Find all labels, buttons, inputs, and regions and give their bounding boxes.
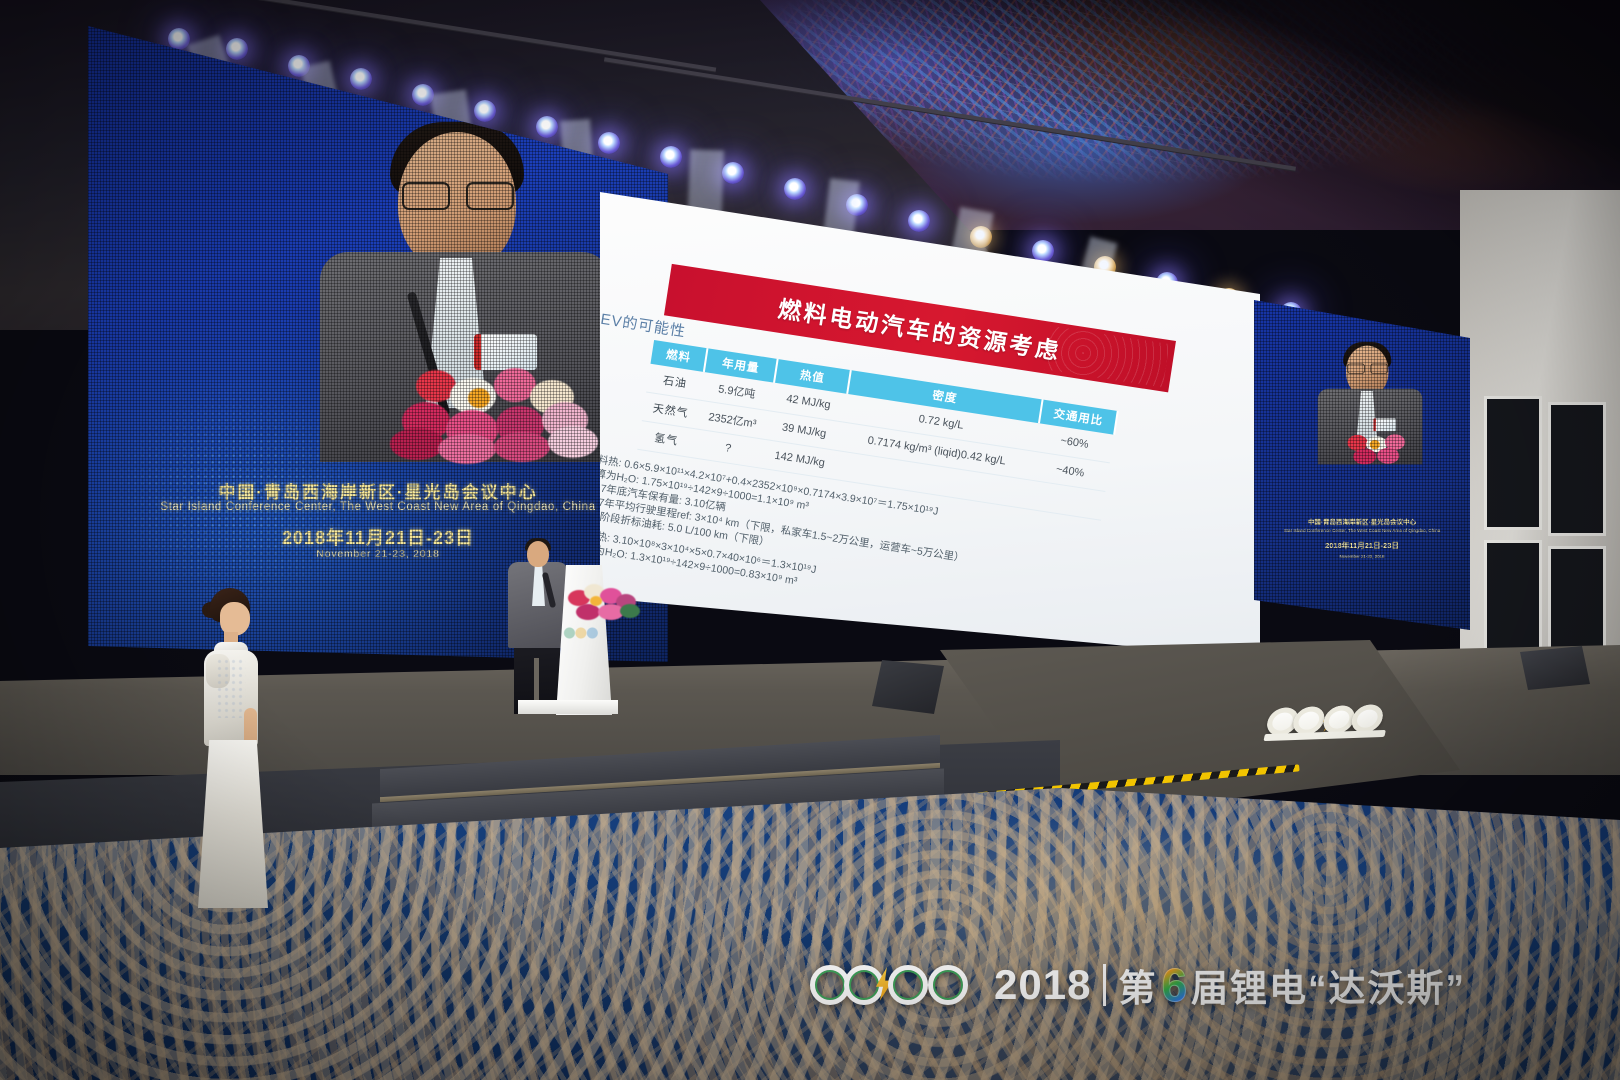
stage-light-icon	[784, 178, 806, 200]
venue-cn-line2-mini: 2018年11月21日-23日	[1254, 540, 1470, 551]
hostess-embroidery	[216, 658, 246, 718]
hostess-face	[220, 602, 250, 636]
stage-podium-flowers	[568, 582, 638, 628]
stage-light-icon	[536, 116, 558, 138]
podium-flowers	[298, 122, 628, 452]
venue-en-line1-mini: Star Island Conference Center, The West …	[1254, 528, 1470, 533]
floor-brand-logo	[1264, 700, 1393, 740]
stage-light-icon	[226, 38, 248, 60]
venue-cn-line2: 2018年11月21日-23日	[88, 524, 668, 550]
conference-stage-photo: 中国·青岛西海岸新区·星光岛会议中心 Star Island Conferenc…	[0, 0, 1620, 1080]
hall-door	[1484, 396, 1542, 530]
event-watermark: 2018 第 6 届锂电“达沃斯”	[810, 958, 1466, 1012]
venue-en-line2: November 21-23, 2018	[88, 548, 668, 560]
watermark-year: 2018	[994, 961, 1091, 1009]
podium-flowers	[1310, 342, 1429, 461]
watermark-cn-prefix: 第	[1118, 958, 1157, 1012]
watermark-divider	[1103, 964, 1106, 1006]
slide-content: 燃料电动汽车的资源考虑 FCEV的可能性 燃料 年用量 热值 密度 交通用比 石…	[600, 198, 1235, 658]
speaker-camera-feed	[298, 122, 628, 452]
hostess-figure	[176, 588, 280, 908]
stage-light-icon	[168, 28, 190, 50]
stage-monitor-speaker	[1520, 646, 1590, 690]
stage-light-icon	[970, 226, 992, 248]
watermark-chinese: 第 6 届锂电“达沃斯”	[1118, 958, 1466, 1012]
abec-logo-icon	[810, 959, 982, 1011]
slide-title: 燃料电动汽车的资源考虑	[776, 290, 1064, 367]
watermark-ordinal: 6	[1161, 958, 1187, 1012]
stage-light-icon	[350, 68, 372, 90]
speaker-camera-feed-right	[1310, 342, 1429, 461]
venue-en-line1: Star Island Conference Center, The West …	[88, 501, 668, 513]
venue-en-line2-mini: November 21-23, 2018	[1254, 554, 1470, 559]
stage-light-icon	[598, 132, 620, 154]
hall-door	[1548, 402, 1606, 536]
stage-light-icon	[722, 162, 744, 184]
stage-speaker-head	[527, 541, 549, 567]
stage-light-icon	[660, 146, 682, 168]
venue-cn-line1: 中国·青岛西海岸新区·星光岛会议中心	[88, 478, 668, 503]
presentation-screen: 燃料电动汽车的资源考虑 FCEV的可能性 燃料 年用量 热值 密度 交通用比 石…	[600, 178, 1260, 658]
stage-light-icon	[474, 100, 496, 122]
venue-cn-line1-mini: 中国·青岛西海岸新区·星光岛会议中心	[1254, 516, 1470, 526]
stage-light-icon	[1032, 240, 1054, 262]
stage-light-icon	[412, 84, 434, 106]
stage-light-icon	[846, 194, 868, 216]
led-screen-right: 中国·青岛西海岸新区·星光岛会议中心 Star Island Conferenc…	[1254, 300, 1470, 630]
stage-light-icon	[288, 55, 310, 77]
stage-light-icon	[908, 210, 930, 232]
hostess-dress-skirt	[198, 740, 268, 908]
stage-monitor-speaker	[872, 660, 944, 714]
podium-base	[518, 700, 618, 714]
watermark-cn-suffix: 届锂电“达沃斯”	[1191, 958, 1466, 1012]
